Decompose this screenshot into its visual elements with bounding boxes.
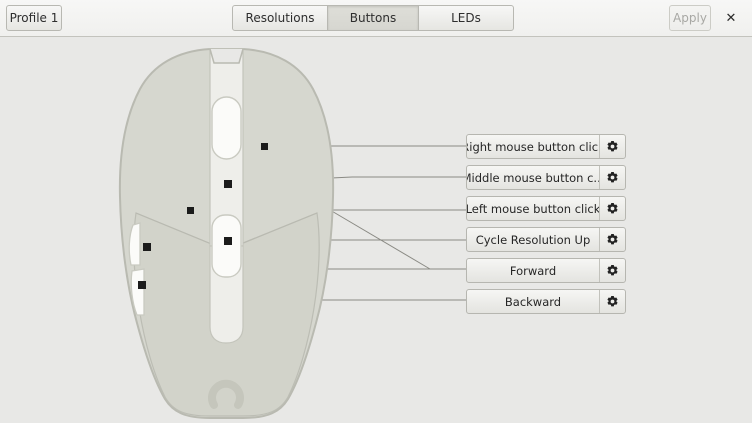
mouse-top-notch xyxy=(210,49,243,63)
mouse-body-group xyxy=(120,49,333,418)
mouse-diagram xyxy=(0,37,752,423)
tab-leds[interactable]: LEDs xyxy=(418,5,514,31)
application-window: Profile 1 Resolutions Buttons LEDs Apply… xyxy=(0,0,752,423)
header-bar: Profile 1 Resolutions Buttons LEDs Apply… xyxy=(0,0,752,37)
gear-icon[interactable] xyxy=(599,290,625,313)
action-label: Cycle Resolution Up xyxy=(467,228,599,251)
tab-group: Resolutions Buttons LEDs xyxy=(232,5,514,31)
action-label: Middle mouse button c... xyxy=(467,166,599,189)
marker-cycle-resolution xyxy=(224,237,232,245)
action-row-backward[interactable]: Backward xyxy=(466,289,626,314)
close-button[interactable]: ✕ xyxy=(718,5,744,31)
gear-icon[interactable] xyxy=(599,228,625,251)
action-row-right-click[interactable]: Right mouse button click xyxy=(466,134,626,159)
marker-backward xyxy=(138,281,146,289)
tab-buttons[interactable]: Buttons xyxy=(327,5,419,31)
action-row-middle-click[interactable]: Middle mouse button c... xyxy=(466,165,626,190)
marker-right-click xyxy=(261,143,268,150)
content-area: Right mouse button click Middle mouse bu… xyxy=(0,37,752,423)
gear-icon[interactable] xyxy=(599,197,625,220)
action-row-forward[interactable]: Forward xyxy=(466,258,626,283)
scroll-wheel xyxy=(212,97,241,159)
marker-forward xyxy=(143,243,151,251)
action-row-left-click[interactable]: Left mouse button click xyxy=(466,196,626,221)
action-row-cycle-resolution-up[interactable]: Cycle Resolution Up xyxy=(466,227,626,252)
action-label: Backward xyxy=(467,290,599,313)
gear-icon[interactable] xyxy=(599,166,625,189)
action-label: Forward xyxy=(467,259,599,282)
profile-button[interactable]: Profile 1 xyxy=(6,5,62,31)
marker-left-click xyxy=(187,207,194,214)
action-label: Left mouse button click xyxy=(467,197,599,220)
tab-resolutions[interactable]: Resolutions xyxy=(232,5,328,31)
apply-button[interactable]: Apply xyxy=(669,5,711,31)
action-label: Right mouse button click xyxy=(467,135,599,158)
gear-icon[interactable] xyxy=(599,259,625,282)
marker-middle-click xyxy=(224,180,232,188)
action-list: Right mouse button click Middle mouse bu… xyxy=(466,134,626,320)
dpi-button xyxy=(212,215,241,277)
gear-icon[interactable] xyxy=(599,135,625,158)
